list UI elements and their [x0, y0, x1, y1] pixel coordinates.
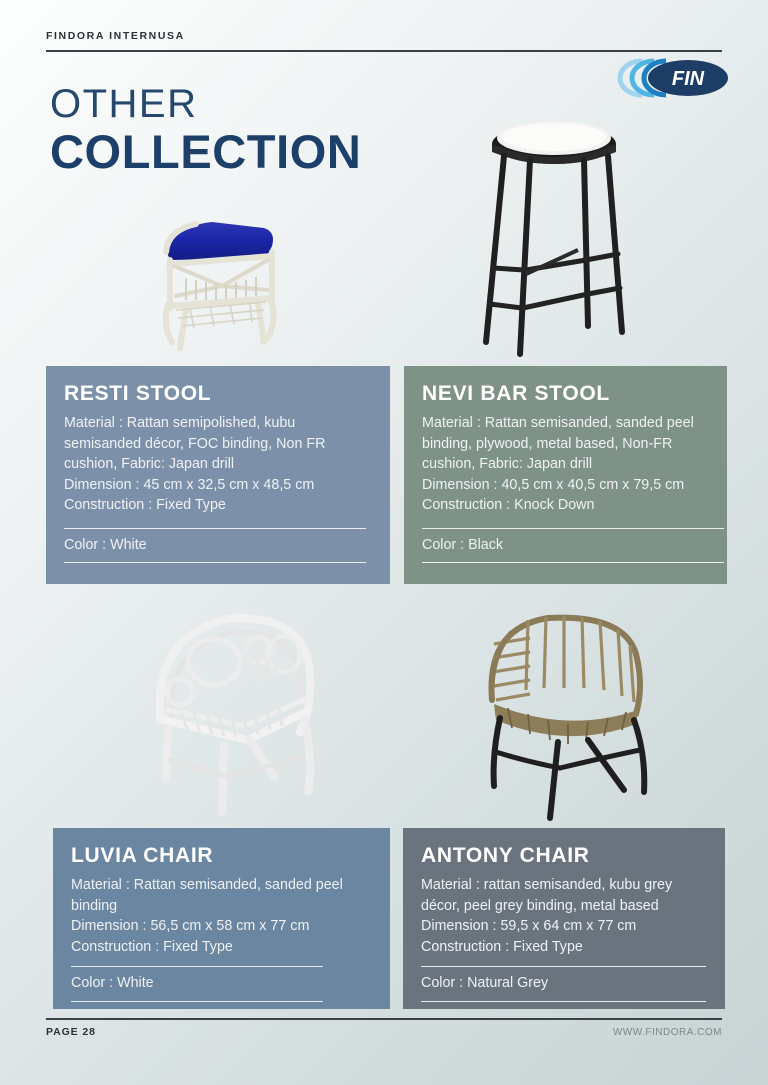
- page-title-line1: OTHER: [50, 82, 361, 127]
- product-name: LUVIA CHAIR: [71, 844, 372, 868]
- product-construction: Construction : Fixed Type: [421, 937, 707, 958]
- product-color: Color : White: [64, 529, 372, 563]
- product-color: Color : Black: [422, 529, 709, 563]
- product-construction: Construction : Fixed Type: [64, 495, 372, 516]
- product-card-antony-chair: ANTONY CHAIR Material : rattan semisande…: [403, 828, 725, 1009]
- product-construction: Construction : Knock Down: [422, 495, 709, 516]
- product-dimension: Dimension : 59,5 x 64 cm x 77 cm: [421, 916, 707, 937]
- product-material: Material : Rattan semipolished, kubu sem…: [64, 413, 372, 475]
- product-dimension: Dimension : 45 cm x 32,5 cm x 48,5 cm: [64, 475, 372, 496]
- divider-bottom: [421, 1001, 706, 1002]
- product-photo-nevi-bar-stool: [468, 118, 638, 360]
- header-divider: [46, 50, 722, 52]
- product-dimension: Dimension : 40,5 cm x 40,5 cm x 79,5 cm: [422, 475, 709, 496]
- product-card-luvia-chair: LUVIA CHAIR Material : Rattan semisanded…: [53, 828, 390, 1009]
- page-title: OTHER COLLECTION: [50, 82, 361, 178]
- divider-bottom: [64, 562, 366, 563]
- product-name: ANTONY CHAIR: [421, 844, 707, 868]
- brand-name: FINDORA INTERNUSA: [46, 30, 185, 42]
- page-number: PAGE 28: [46, 1026, 96, 1038]
- product-photo-antony-chair: [468, 604, 668, 822]
- product-material: Material : Rattan semisanded, sanded pee…: [422, 413, 709, 475]
- page-title-line2: COLLECTION: [50, 127, 361, 178]
- product-card-resti-stool: RESTI STOOL Material : Rattan semipolish…: [46, 366, 390, 584]
- divider-bottom: [71, 1001, 323, 1002]
- product-card-nevi-bar-stool: NEVI BAR STOOL Material : Rattan semisan…: [404, 366, 727, 584]
- divider-bottom: [422, 562, 724, 563]
- product-name: RESTI STOOL: [64, 382, 372, 406]
- catalog-page: FINDORA INTERNUSA FIN OTHER COLLECTION: [0, 0, 768, 1085]
- product-dimension: Dimension : 56,5 cm x 58 cm x 77 cm: [71, 916, 372, 937]
- product-name: NEVI BAR STOOL: [422, 382, 709, 406]
- website-url: WWW.FINDORA.COM: [613, 1027, 722, 1038]
- product-material: Material : Rattan semisanded, sanded pee…: [71, 875, 372, 916]
- product-construction: Construction : Fixed Type: [71, 937, 372, 958]
- findora-logo: FIN: [612, 58, 730, 98]
- footer-divider: [46, 1018, 722, 1020]
- product-color: Color : Natural Grey: [421, 967, 707, 1001]
- product-photo-luvia-chair: [138, 600, 338, 822]
- product-material: Material : rattan semisanded, kubu grey …: [421, 875, 707, 916]
- product-color: Color : White: [71, 967, 372, 1001]
- logo-text: FIN: [672, 68, 705, 90]
- product-photo-resti-stool: [140, 200, 300, 360]
